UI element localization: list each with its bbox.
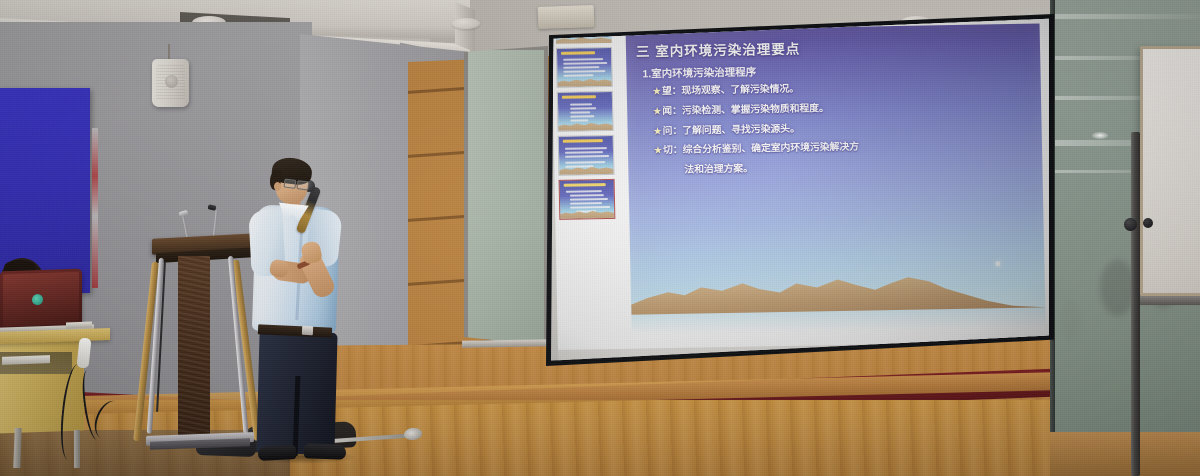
list-item[interactable]: [557, 91, 614, 132]
thumbnail-text-line: [565, 147, 607, 150]
star-icon: ★: [654, 126, 662, 136]
projected-desktop: 三 室内环境污染治理要点 1.室内环境污染治理程序 ★望：现场观察、了解污染情况…: [551, 18, 1049, 362]
presenter-shoe: [258, 445, 297, 461]
thumbnail-text-line: [563, 58, 603, 61]
thumbnail-title-bar: [562, 95, 596, 99]
thumbnail-text-line: [570, 115, 594, 117]
thumbnail-text-line: [570, 111, 590, 113]
list-item: ★问：了解问题、寻找污染源头。: [654, 119, 1030, 137]
projection-screen[interactable]: 三 室内环境污染治理要点 1.室内环境污染治理程序 ★望：现场观察、了解污染情况…: [551, 18, 1049, 362]
glasses-icon: [284, 179, 310, 190]
whiteboard-stand-pole[interactable]: [1131, 132, 1140, 476]
presenter-shoe: [304, 443, 346, 459]
thumbnail-text-line: [565, 165, 593, 167]
thumbnail-text-line: [570, 119, 588, 121]
lectern-front-panel: [178, 256, 210, 436]
glass-sheen: [1050, 14, 1200, 19]
belt-buckle: [302, 326, 313, 335]
glass-sill-wood: [1050, 432, 1200, 476]
thumbnail-text-line: [565, 161, 605, 164]
list-item: ★闻：污染检测、掌握污染物质和程度。: [653, 99, 1029, 117]
whiteboard-marker-tray: [1136, 296, 1200, 305]
dune-front-layer: [630, 255, 1045, 316]
thumbnail-text-line: [566, 190, 602, 193]
downlight-icon: [452, 18, 480, 29]
slide-thumbnail-rail[interactable]: [556, 27, 622, 348]
active-slide[interactable]: 三 室内环境污染治理要点 1.室内环境污染治理程序 ★望：现场观察、了解污染情况…: [626, 23, 1046, 334]
thumbnail-dune-graphic: [558, 120, 612, 131]
slide-bullet-list: ★望：现场观察、了解污染情况。 ★闻：污染检测、掌握污染物质和程度。 ★问：了解…: [653, 80, 1031, 177]
thumbnail-text-line: [565, 155, 609, 158]
thumbnail-text-line: [563, 62, 607, 65]
thumbnail-title-bar: [564, 183, 606, 187]
presenter-ear: [274, 182, 281, 191]
lecture-hall-photo: 三 室内环境污染治理要点 1.室内环境污染治理程序 ★望：现场观察、了解污染情况…: [0, 0, 1200, 476]
sun-glow-icon: [995, 261, 1000, 266]
bullet-text: 问：了解问题、寻找污染源头。: [663, 123, 800, 136]
star-icon: ★: [654, 145, 662, 155]
thumbnail-text-line: [565, 151, 603, 154]
list-item[interactable]: [558, 135, 615, 176]
list-item: ★望：现场观察、了解污染情况。: [653, 80, 1029, 98]
thumbnail-text-line: [563, 74, 593, 77]
green-chalkboard: [464, 46, 548, 346]
thumbnail-text-line: [570, 194, 604, 197]
desk-leg: [13, 428, 21, 468]
glass-silhouette: [1062, 300, 1080, 342]
speaker-cone-icon: [165, 75, 178, 88]
thumbnail-text-line: [570, 107, 596, 109]
glass-light-reflection: [1092, 132, 1108, 139]
slide-subtitle: 1.室内环境污染治理程序: [642, 64, 756, 81]
thumbnail-title-bar: [561, 51, 595, 55]
thumbnail-text-line: [570, 206, 610, 209]
thumbnail-text-line: [570, 198, 608, 201]
thumbnail-text-line: [563, 66, 599, 69]
thumbnail-dune-graphic: [558, 76, 612, 87]
wall-trim-strip: [92, 128, 98, 288]
bullet-text: 闻：污染检测、掌握污染物质和程度。: [662, 103, 829, 117]
slide-title: 三 室内环境污染治理要点: [636, 34, 1030, 61]
bullet-continuation: 法和治理方案。: [654, 159, 1030, 177]
desk-paper: [66, 322, 92, 329]
list-item-selected[interactable]: [559, 179, 616, 220]
presenter: [246, 150, 364, 460]
bullet-text: 望：现场观察、了解污染情况。: [662, 84, 799, 97]
mobile-whiteboard: [1140, 46, 1200, 296]
thumbnail-text-line: [570, 202, 602, 205]
whiteboard-adjust-knob[interactable]: [1124, 218, 1137, 231]
thumbnail-title-bar: [563, 139, 603, 143]
wall-speaker: [152, 59, 189, 107]
whiteboard-adjust-knob[interactable]: [1143, 218, 1153, 228]
star-icon: ★: [653, 106, 661, 116]
projection-screen-housing: [538, 5, 595, 29]
list-item: ★切：综合分析鉴别、确定室内环境污染解决方: [654, 139, 1030, 157]
thumbnail-text-line: [570, 103, 592, 105]
list-item[interactable]: [556, 47, 613, 88]
desk-shelf-item: [2, 355, 50, 365]
star-icon: ★: [653, 86, 661, 96]
bullet-text: 切：综合分析鉴别、确定室内环境污染解决方: [663, 142, 859, 156]
laptop[interactable]: [0, 269, 82, 330]
thumbnail-text-line: [563, 70, 605, 73]
